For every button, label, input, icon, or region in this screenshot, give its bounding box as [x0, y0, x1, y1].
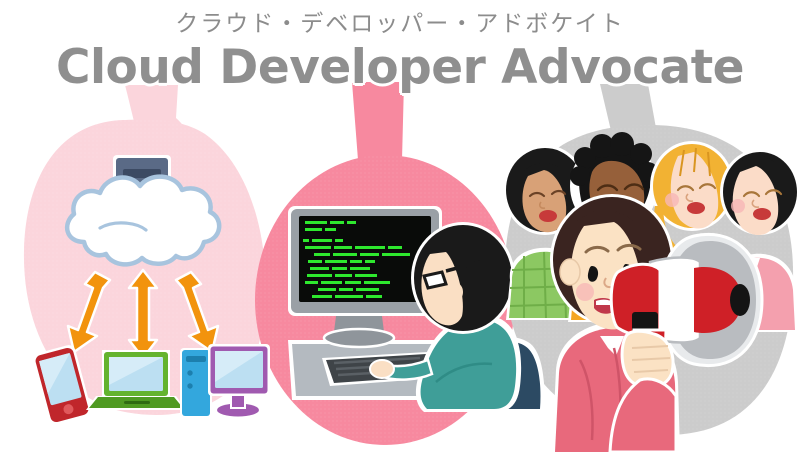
cloud-icon [67, 177, 219, 265]
banner-canvas: クラウド・デベロッパー・アドボケイト Cloud Developer Advoc… [0, 0, 800, 452]
subtitle-japanese: クラウド・デベロッパー・アドボケイト [0, 4, 800, 38]
page-title: Cloud Developer Advocate [0, 40, 800, 95]
developer-illustration [288, 206, 544, 412]
desktop-icon [180, 344, 270, 420]
advocate-illustration [503, 132, 800, 452]
ear [560, 259, 580, 285]
